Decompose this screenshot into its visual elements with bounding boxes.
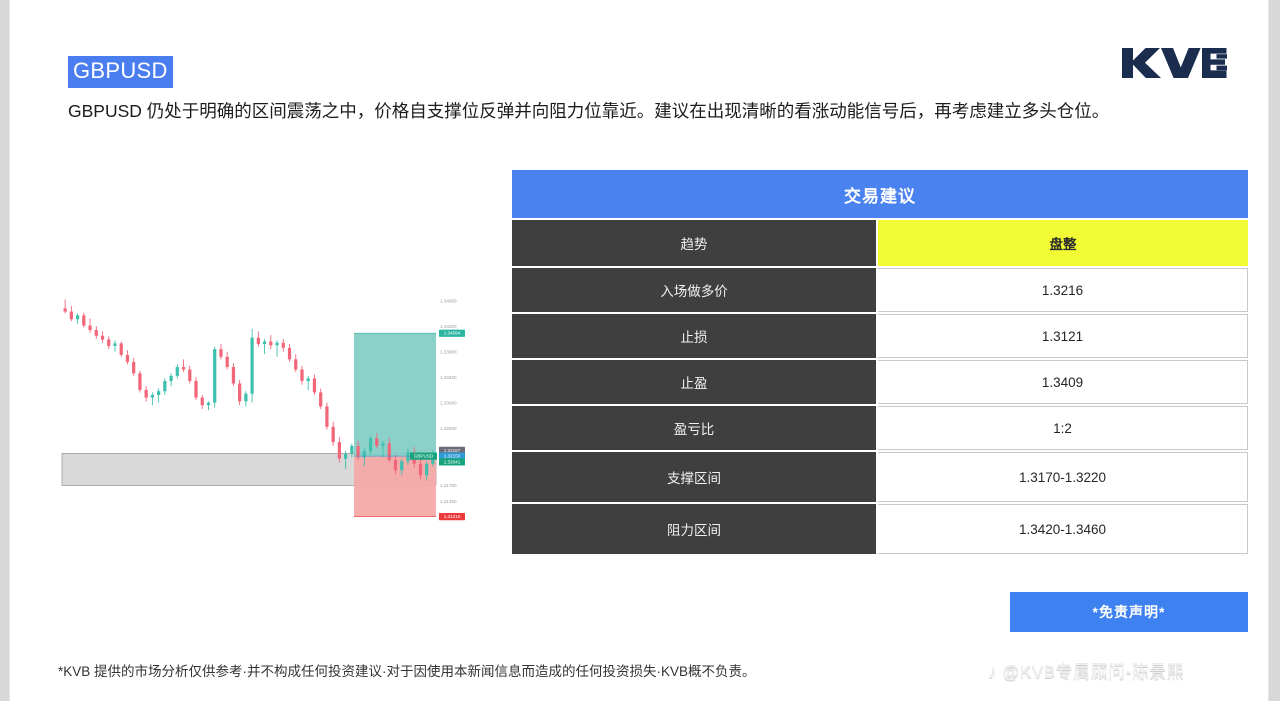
row-label: 入场做多价 xyxy=(512,268,878,312)
row-value: 1:2 xyxy=(878,406,1248,450)
svg-text:1.32167: 1.32167 xyxy=(444,448,461,453)
row-label: 阻力区间 xyxy=(512,504,878,554)
row-value: 1.3409 xyxy=(878,360,1248,404)
svg-text:1.34600: 1.34600 xyxy=(440,299,457,304)
svg-text:1.34094: 1.34094 xyxy=(444,331,461,336)
svg-text:1.33000: 1.33000 xyxy=(440,400,457,405)
svg-text:1.31210: 1.31210 xyxy=(444,514,461,519)
table-row: 盈亏比1:2 xyxy=(512,406,1248,450)
row-value: 1.3170-1.3220 xyxy=(878,452,1248,502)
svg-text:1.33400: 1.33400 xyxy=(440,375,457,380)
price-axis: 1.346001.342001.338001.334001.330001.326… xyxy=(440,299,457,505)
table-row: 止盈1.3409 xyxy=(512,360,1248,404)
table-row: 趋势盘整 xyxy=(512,220,1248,266)
svg-text:1.34200: 1.34200 xyxy=(440,324,457,329)
price-chart[interactable]: 1.346001.342001.338001.334001.330001.326… xyxy=(54,258,474,570)
row-label: 止损 xyxy=(512,314,878,358)
svg-text:1.31450: 1.31450 xyxy=(440,499,457,504)
row-label: 止盈 xyxy=(512,360,878,404)
table-row: 支撑区间1.3170-1.3220 xyxy=(512,452,1248,502)
svg-text:1.31700: 1.31700 xyxy=(440,483,457,488)
trade-advice-table: 交易建议 趋势盘整入场做多价1.3216止损1.3121止盈1.3409盈亏比1… xyxy=(512,168,1248,556)
table-row: 止损1.3121 xyxy=(512,314,1248,358)
instrument-tag-label: GBPUSD xyxy=(414,454,434,459)
row-value: 1.3420-1.3460 xyxy=(878,504,1248,554)
row-value: 1.3216 xyxy=(878,268,1248,312)
take-profit-zone xyxy=(354,333,436,456)
table-row: 入场做多价1.3216 xyxy=(512,268,1248,312)
row-label: 趋势 xyxy=(512,220,878,266)
trend-value: 盘整 xyxy=(878,220,1248,266)
row-label: 盈亏比 xyxy=(512,406,878,450)
kvb-logo-icon xyxy=(1120,46,1230,80)
row-value: 1.3121 xyxy=(878,314,1248,358)
analysis-paragraph: GBPUSD 仍处于明确的区间震荡之中，价格自支撑位反弹并向阻力位靠近。建议在出… xyxy=(68,98,1198,124)
table-body: 交易建议 趋势盘整入场做多价1.3216止损1.3121止盈1.3409盈亏比1… xyxy=(512,170,1248,554)
svg-text:1.33800: 1.33800 xyxy=(440,349,457,354)
page-title: GBPUSD xyxy=(68,56,173,88)
row-label: 支撑区间 xyxy=(512,452,878,502)
table-row: 阻力区间1.3420-1.3460 xyxy=(512,504,1248,554)
footer-disclaimer-text: *KVB 提供的市场分析仅供参考·并不构成任何投资建议·对于因使用本新闻信息而造… xyxy=(58,660,756,680)
svg-text:1.32041: 1.32041 xyxy=(444,459,461,464)
watermark-text: ♪ @KVB专属顾问-陈景熙 xyxy=(988,658,1184,683)
svg-text:1.32600: 1.32600 xyxy=(440,426,457,431)
slide-canvas: GBPUSD GBPUSD 仍处于明确的区间震荡之中，价格自支撑位反弹并向阻力位… xyxy=(10,0,1268,701)
table-title-row: 交易建议 xyxy=(512,170,1248,218)
svg-text:1.32150: 1.32150 xyxy=(444,454,461,459)
table-title: 交易建议 xyxy=(512,170,1248,218)
disclaimer-button[interactable]: *免责声明* xyxy=(1010,592,1248,632)
